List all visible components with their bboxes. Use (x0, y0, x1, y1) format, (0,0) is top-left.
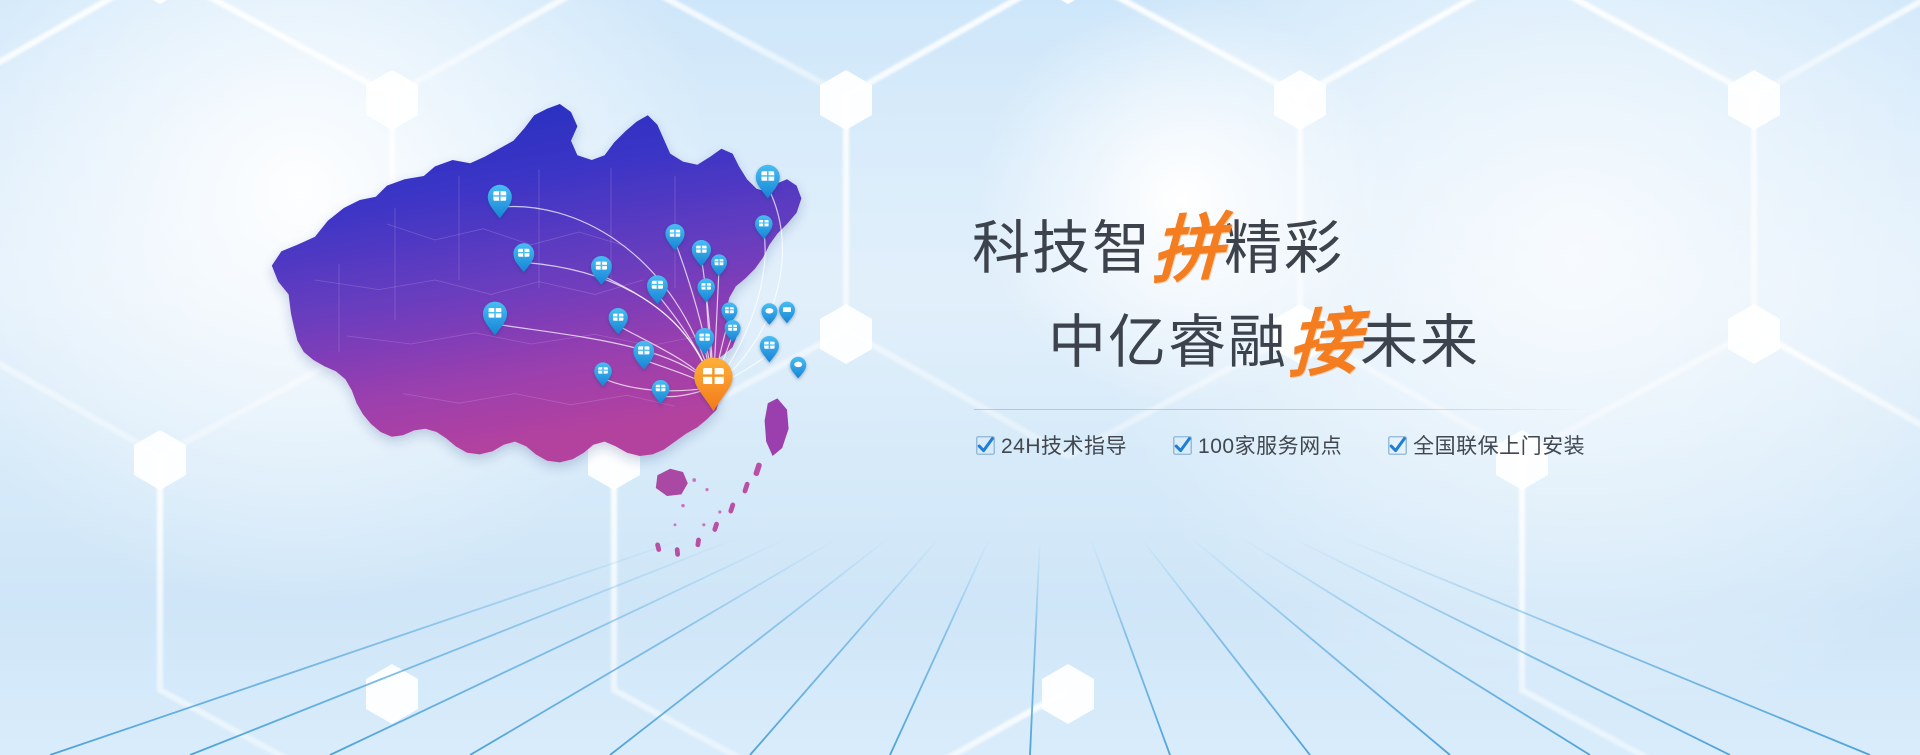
headline-line-1: 科技智拼精彩 (968, 196, 1608, 290)
headline-line-2-post: 未来 (1360, 310, 1480, 375)
feature-item: 24H技术指导 (976, 430, 1127, 460)
feature-item: 100家服务网点 (1173, 430, 1342, 460)
china-service-network-map (195, 28, 835, 628)
headline-line-1-post: 精彩 (1224, 216, 1344, 281)
hero-copy: 科技智拼精彩 中亿睿融接未来 24H技术指导 100家服务网点 (968, 196, 1608, 460)
check-icon (976, 436, 995, 455)
headline-line-1-accent: 拼 (1150, 199, 1225, 298)
hero-banner: 科技智拼精彩 中亿睿融接未来 24H技术指导 100家服务网点 (0, 0, 1920, 755)
feature-list: 24H技术指导 100家服务网点 全国联保上门安装 (976, 430, 1608, 460)
headline-line-2: 中亿睿融接未来 (968, 290, 1608, 384)
check-icon (1173, 436, 1192, 455)
feature-label: 全国联保上门安装 (1413, 430, 1585, 460)
check-icon (1388, 436, 1407, 455)
feature-item: 全国联保上门安装 (1388, 430, 1585, 460)
feature-label: 24H技术指导 (1001, 430, 1127, 460)
headline-line-2-pre: 中亿睿融 (1048, 310, 1288, 375)
headline-line-1-pre: 科技智 (972, 216, 1152, 281)
feature-label: 100家服务网点 (1198, 430, 1342, 460)
headline-line-2-accent: 接 (1286, 293, 1361, 392)
copy-divider (974, 409, 1594, 410)
